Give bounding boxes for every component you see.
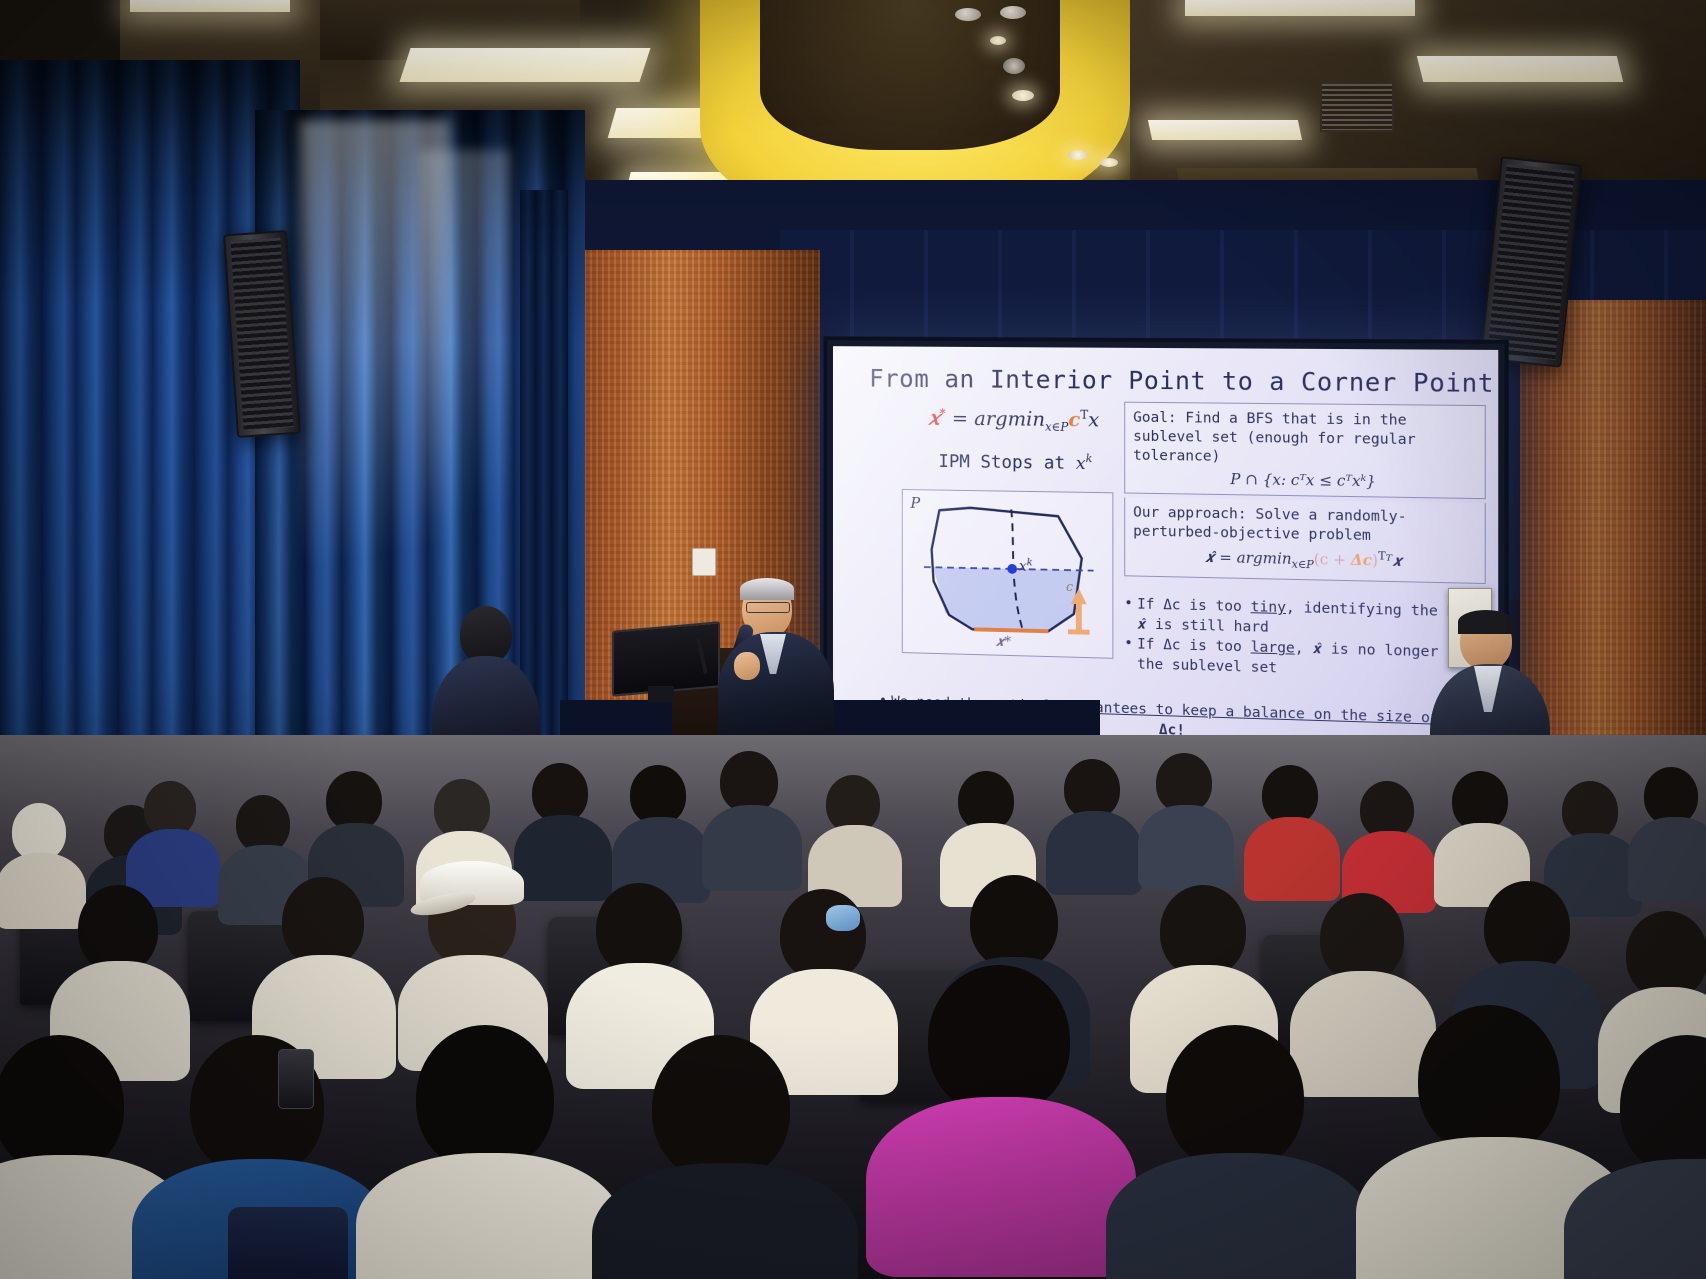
wall-outlet: [692, 548, 716, 576]
goal-formula: P ∩ {x: cᵀx ≤ cᵀxᵏ}: [1133, 469, 1476, 494]
presenter-glasses: [746, 602, 790, 613]
ipm-stop-text: IPM Stops at: [938, 451, 1075, 474]
goal-box: Goal: Find a BFS that is in the sublevel…: [1124, 402, 1486, 500]
diagram-label-polytope: P: [910, 494, 920, 512]
ceiling-light-strip-1: [399, 48, 650, 82]
equation-x-star-symbol: 𝑥: [929, 406, 940, 430]
diagram-label-iterate: xk: [1019, 557, 1033, 575]
equation-ipm-stop: IPM Stops at xk: [938, 450, 1092, 474]
approach-formula: 𝒙̂ = argminx∈P(c + Δc)Tᵀ𝒙: [1133, 545, 1476, 577]
attendee-right-hair: [1458, 610, 1514, 634]
diagram-label-optimum: 𝒙*: [996, 634, 1012, 650]
lecture-hall-photo: From an Interior Point to a Corner Point…: [0, 0, 1706, 1279]
approach-box: Our approach: Solve a randomly-perturbed…: [1124, 497, 1486, 583]
approach-label: Our approach:: [1133, 505, 1246, 523]
smoke-detector-1: [955, 8, 981, 21]
audience-member: [130, 781, 212, 901]
presenter-hair: [740, 578, 794, 600]
projection-screen[interactable]: From an Interior Point to a Corner Point…: [833, 346, 1498, 755]
smoke-detector-2: [1000, 6, 1026, 19]
ceiling-light-strip-5: [1417, 56, 1623, 82]
presenter: [716, 580, 836, 760]
ceiling-downlight-2: [1012, 90, 1034, 101]
presenter-hand: [734, 652, 760, 680]
audience-area: [0, 735, 1706, 1279]
smartphone: [278, 1049, 314, 1109]
audience-member: [372, 1025, 602, 1279]
polytope-diagram-svg: [903, 490, 1113, 658]
ipm-stop-superscript: k: [1086, 452, 1093, 465]
audience-member: [880, 965, 1116, 1265]
audience-member: [616, 765, 702, 893]
lectern-monitor-stand: [648, 686, 674, 702]
audience-member: [1122, 1025, 1352, 1279]
audience-member: [1142, 753, 1228, 879]
audience-member: [1438, 771, 1524, 897]
ceiling-downlight-4: [1100, 158, 1118, 167]
diagram-label-cost-vector: c: [1066, 580, 1073, 595]
audience-member: [150, 1035, 370, 1279]
ceiling-downlight-3: [1068, 150, 1088, 160]
curtain-light-reflection-2: [420, 150, 510, 670]
audience-member: [608, 1035, 838, 1279]
polytope-diagram: P xk 𝒙* c: [902, 489, 1114, 659]
audience-member: [1248, 765, 1334, 891]
ceiling-air-vent: [1320, 82, 1394, 132]
slide-title: From an Interior Point to a Corner Point…: [869, 364, 1498, 401]
audience-member: [812, 775, 894, 899]
audience-member: [706, 751, 794, 881]
bullet-underline-tiny: tiny: [1251, 599, 1286, 616]
ceiling-speaker-dome: [1003, 58, 1025, 74]
presentation-slide: From an Interior Point to a Corner Point…: [833, 346, 1498, 755]
backpack-strap: [228, 1207, 348, 1279]
ceiling-downlight-1: [990, 36, 1006, 45]
goal-label: Goal:: [1133, 410, 1176, 426]
audience-member: [1346, 781, 1430, 905]
optimal-face: [974, 629, 1048, 631]
audience-member: [1050, 759, 1136, 885]
hair-clip: [826, 905, 860, 931]
ceiling-light-strip-4: [1185, 0, 1415, 16]
sublevel-set-fill: [934, 567, 1081, 632]
bullet-underline-large: large: [1251, 640, 1295, 657]
ceiling-light-strip-6: [1148, 120, 1302, 140]
equation-optimal-solution: 𝑥* = argminx∈PcT𝑥: [929, 406, 1100, 435]
ipm-stop-variable: x: [1076, 453, 1086, 474]
audience-member: [1634, 767, 1706, 893]
audience-member: [1580, 1035, 1706, 1279]
